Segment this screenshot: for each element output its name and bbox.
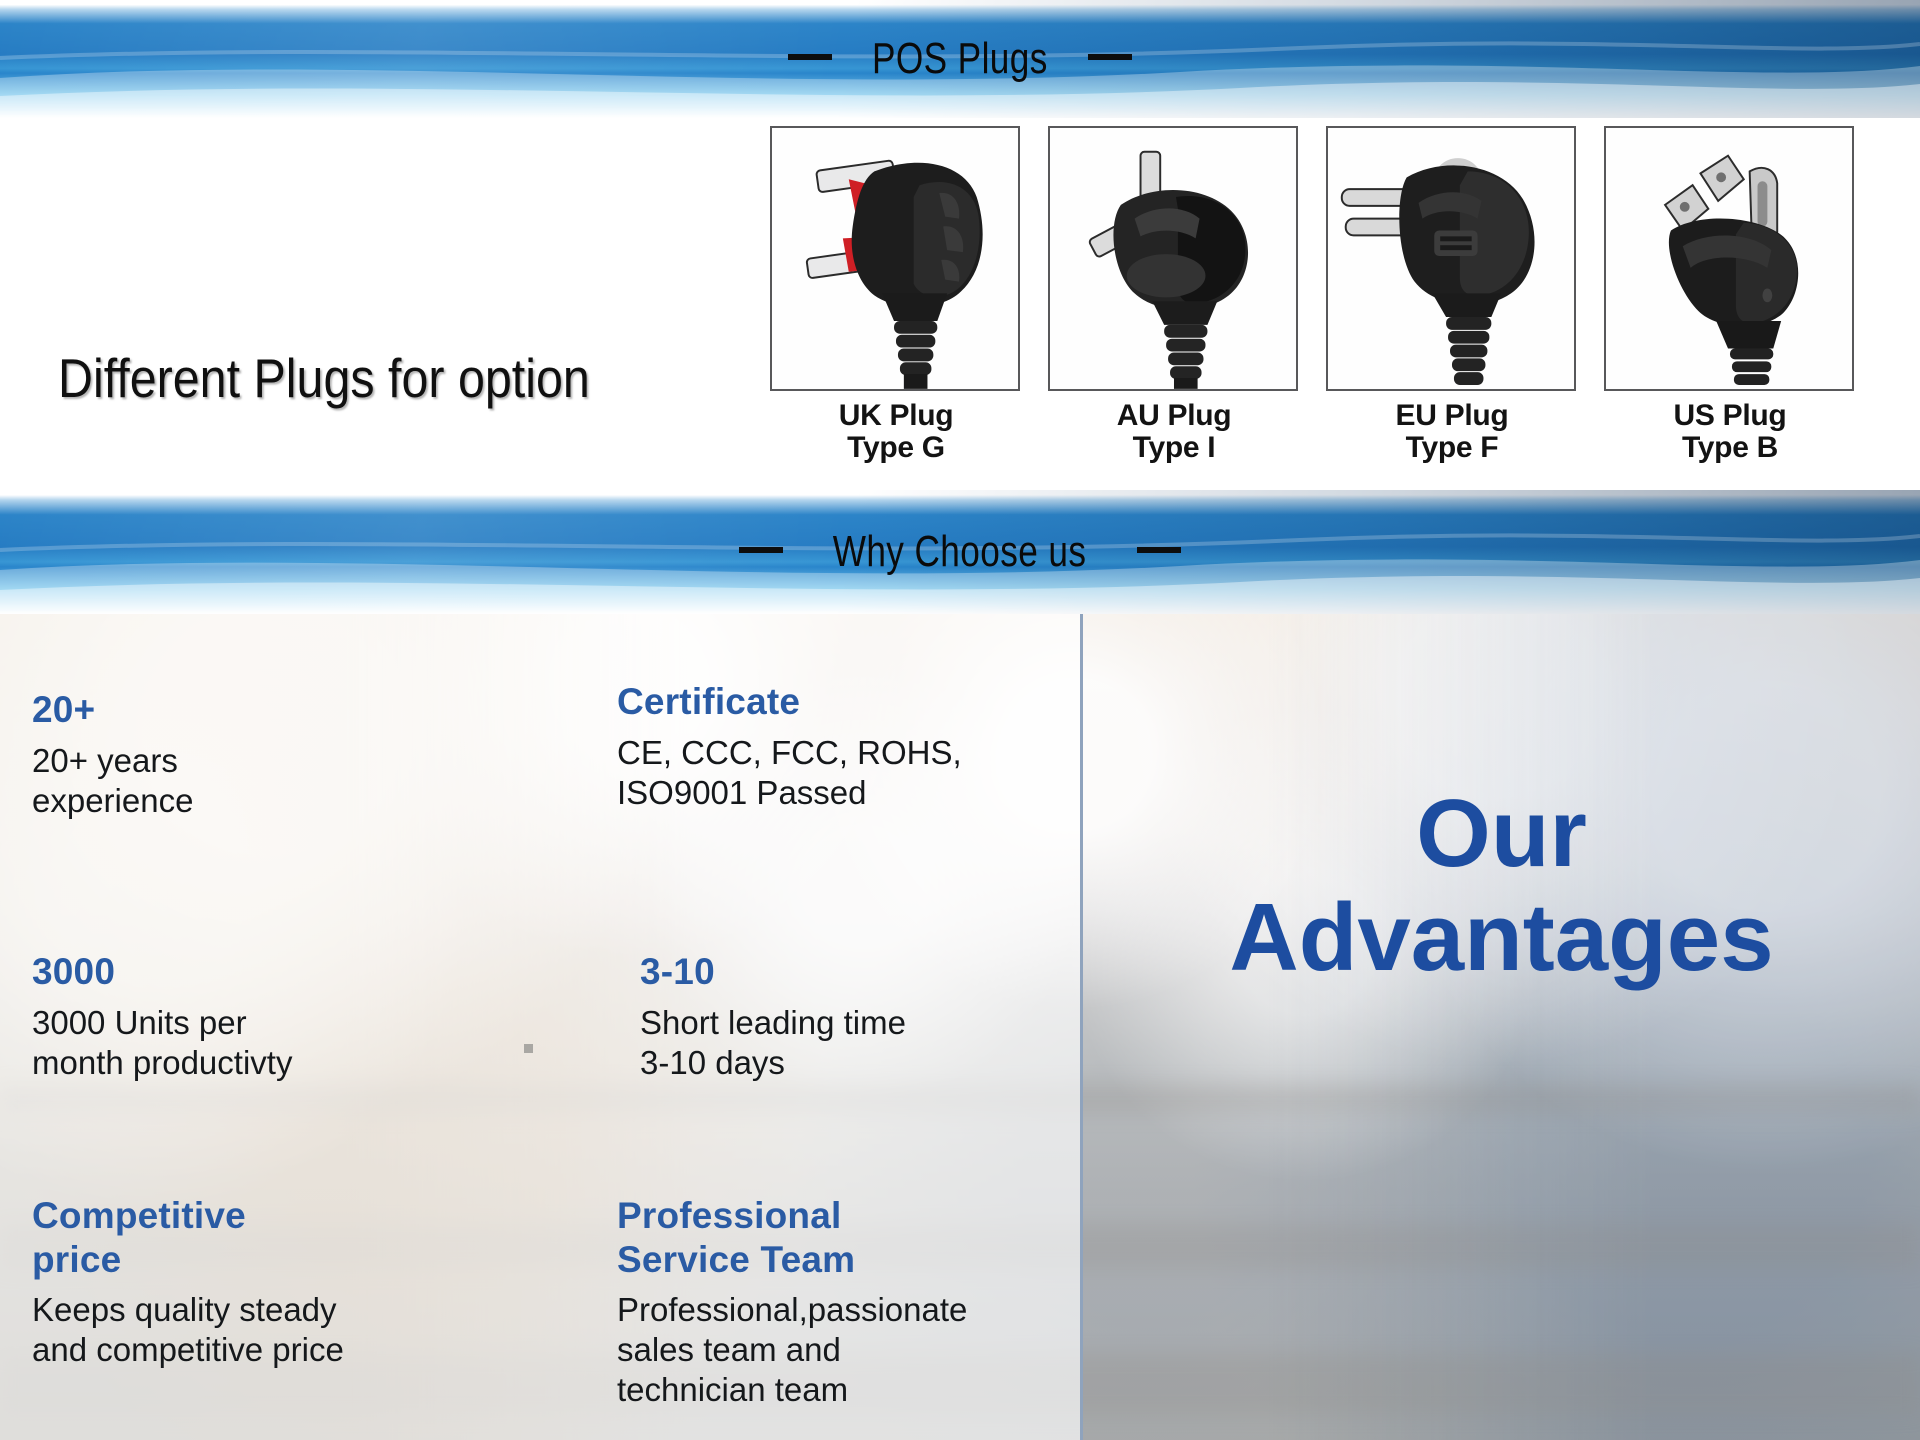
plug-caption-eu: EU Plug Type F [1326,400,1578,465]
advantage-item-certificate[interactable]: Certificate CE, CCC, FCC, ROHS, ISO9001 … [617,680,1087,813]
advantage-item-years[interactable]: 20+ 20+ years experience [32,688,502,821]
advantage-title-certificate: Certificate [617,680,1087,724]
advantage-item-capacity[interactable]: 3000 3000 Units per month productivty [32,950,502,1083]
plug-caption-uk: UK Plug Type G [770,400,1022,465]
plug-region-uk: UK Plug [770,400,1022,432]
banner-mid-title-group: Why Choose us [0,527,1920,577]
advantage-body-price: Keeps quality steady and competitive pri… [32,1290,502,1370]
plug-caption-us: US Plug Type B [1604,400,1856,465]
plug-type-uk: Type G [770,432,1022,464]
advantage-body-service-team: Professional,passionate sales team and t… [617,1290,1097,1410]
advantage-body-certificate: CE, CCC, FCC, ROHS, ISO9001 Passed [617,733,1087,813]
uk-plug-photo [770,126,1020,391]
plugs-section: Different Plugs for option [0,118,1920,490]
plug-card-uk[interactable]: UK Plug Type G [770,126,1022,465]
advantage-body-capacity: 3000 Units per month productivty [32,1003,502,1083]
plug-options-row: UK Plug Type G [770,126,1856,465]
eu-plug-photo [1326,126,1576,391]
us-plug-photo [1604,126,1854,391]
plug-card-eu[interactable]: EU Plug Type F [1326,126,1578,465]
plugs-section-heading: Different Plugs for option [58,346,590,410]
plug-type-eu: Type F [1326,432,1578,464]
advantages-section: Our Advantages 20+ 20+ years experience … [0,614,1920,1440]
dash-left-icon [788,54,832,60]
banner-pos-plugs: POS Plugs [0,0,1920,118]
dash-right-icon [1088,54,1132,60]
plug-region-eu: EU Plug [1326,400,1578,432]
plug-type-au: Type I [1048,432,1300,464]
plug-region-au: AU Plug [1048,400,1300,432]
advantage-item-service-team[interactable]: Professional Service Team Professional,p… [617,1194,1097,1410]
dash-right-icon [1137,547,1181,553]
advantage-item-price[interactable]: Competitive price Keeps quality steady a… [32,1194,502,1370]
plug-region-us: US Plug [1604,400,1856,432]
advantage-body-lead-time: Short leading time 3-10 days [640,1003,1110,1083]
plug-type-us: Type B [1604,432,1856,464]
advantage-title-capacity: 3000 [32,950,502,994]
plug-card-us[interactable]: US Plug Type B [1604,126,1856,465]
plug-card-au[interactable]: AU Plug Type I [1048,126,1300,465]
au-plug-photo [1048,126,1298,391]
advantage-title-lead-time: 3-10 [640,950,1110,994]
advantage-item-lead-time[interactable]: 3-10 Short leading time 3-10 days [640,950,1110,1083]
background-speck [524,1044,533,1053]
advantage-body-years: 20+ years experience [32,741,502,821]
advantage-title-price: Competitive price [32,1194,502,1281]
banner-mid-title: Why Choose us [833,527,1087,577]
banner-why-choose-us: Why Choose us [0,490,1920,614]
dash-left-icon [739,547,783,553]
banner-top-title: POS Plugs [872,34,1048,84]
banner-top-title-group: POS Plugs [0,34,1920,84]
advantage-title-service-team: Professional Service Team [617,1194,1097,1281]
advantage-title-years: 20+ [32,688,502,732]
advantages-grid: 20+ 20+ years experience Certificate CE,… [0,614,1920,1440]
plug-caption-au: AU Plug Type I [1048,400,1300,465]
